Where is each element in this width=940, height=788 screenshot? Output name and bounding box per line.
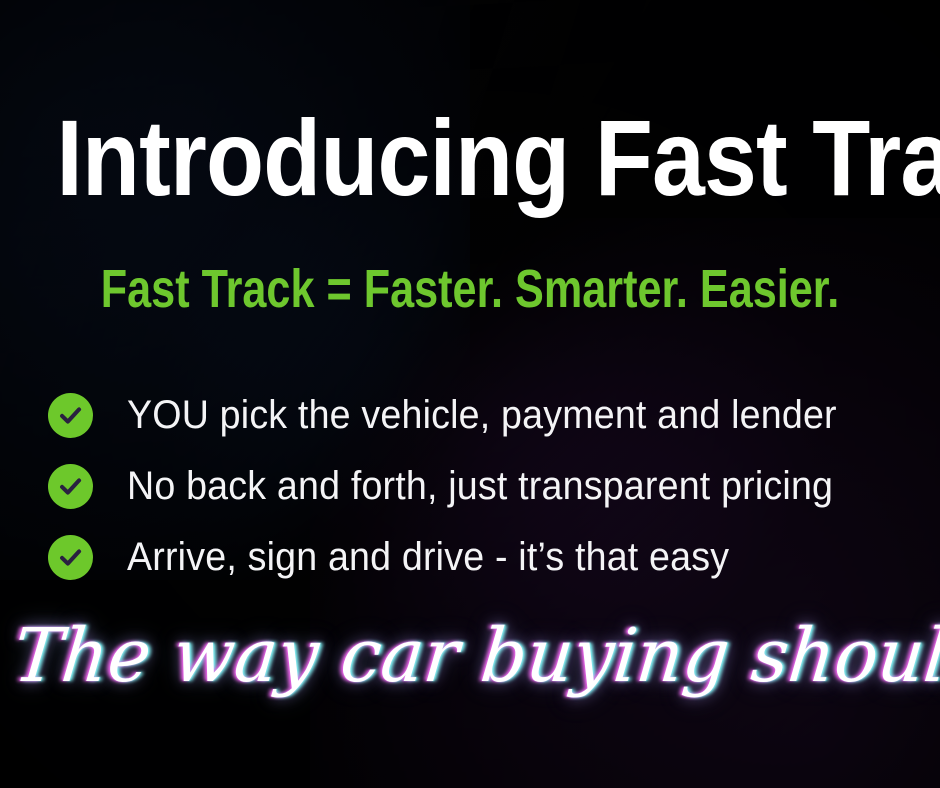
check-circle-icon bbox=[48, 393, 93, 438]
list-item: No back and forth, just transparent pric… bbox=[48, 451, 908, 521]
subtitle: Fast Track = Faster. Smarter. Easier. bbox=[94, 262, 846, 316]
list-item-label: No back and forth, just transparent pric… bbox=[127, 466, 833, 506]
check-circle-icon bbox=[48, 464, 93, 509]
list-item: Arrive, sign and drive - it’s that easy bbox=[48, 522, 908, 592]
list-item-label: Arrive, sign and drive - it’s that easy bbox=[127, 537, 729, 577]
fast-track-promo-graphic: Introducing Fast Track Fast Track = Fast… bbox=[0, 0, 940, 788]
list-item: YOU pick the vehicle, payment and lender bbox=[48, 380, 908, 450]
page-title: Introducing Fast Track bbox=[56, 104, 883, 212]
list-item-label: YOU pick the vehicle, payment and lender bbox=[127, 395, 837, 435]
check-circle-icon bbox=[48, 535, 93, 580]
tagline: The way car buying should be. bbox=[10, 612, 931, 701]
benefit-list: YOU pick the vehicle, payment and lender… bbox=[48, 380, 908, 593]
promo-content: Introducing Fast Track Fast Track = Fast… bbox=[0, 0, 940, 788]
